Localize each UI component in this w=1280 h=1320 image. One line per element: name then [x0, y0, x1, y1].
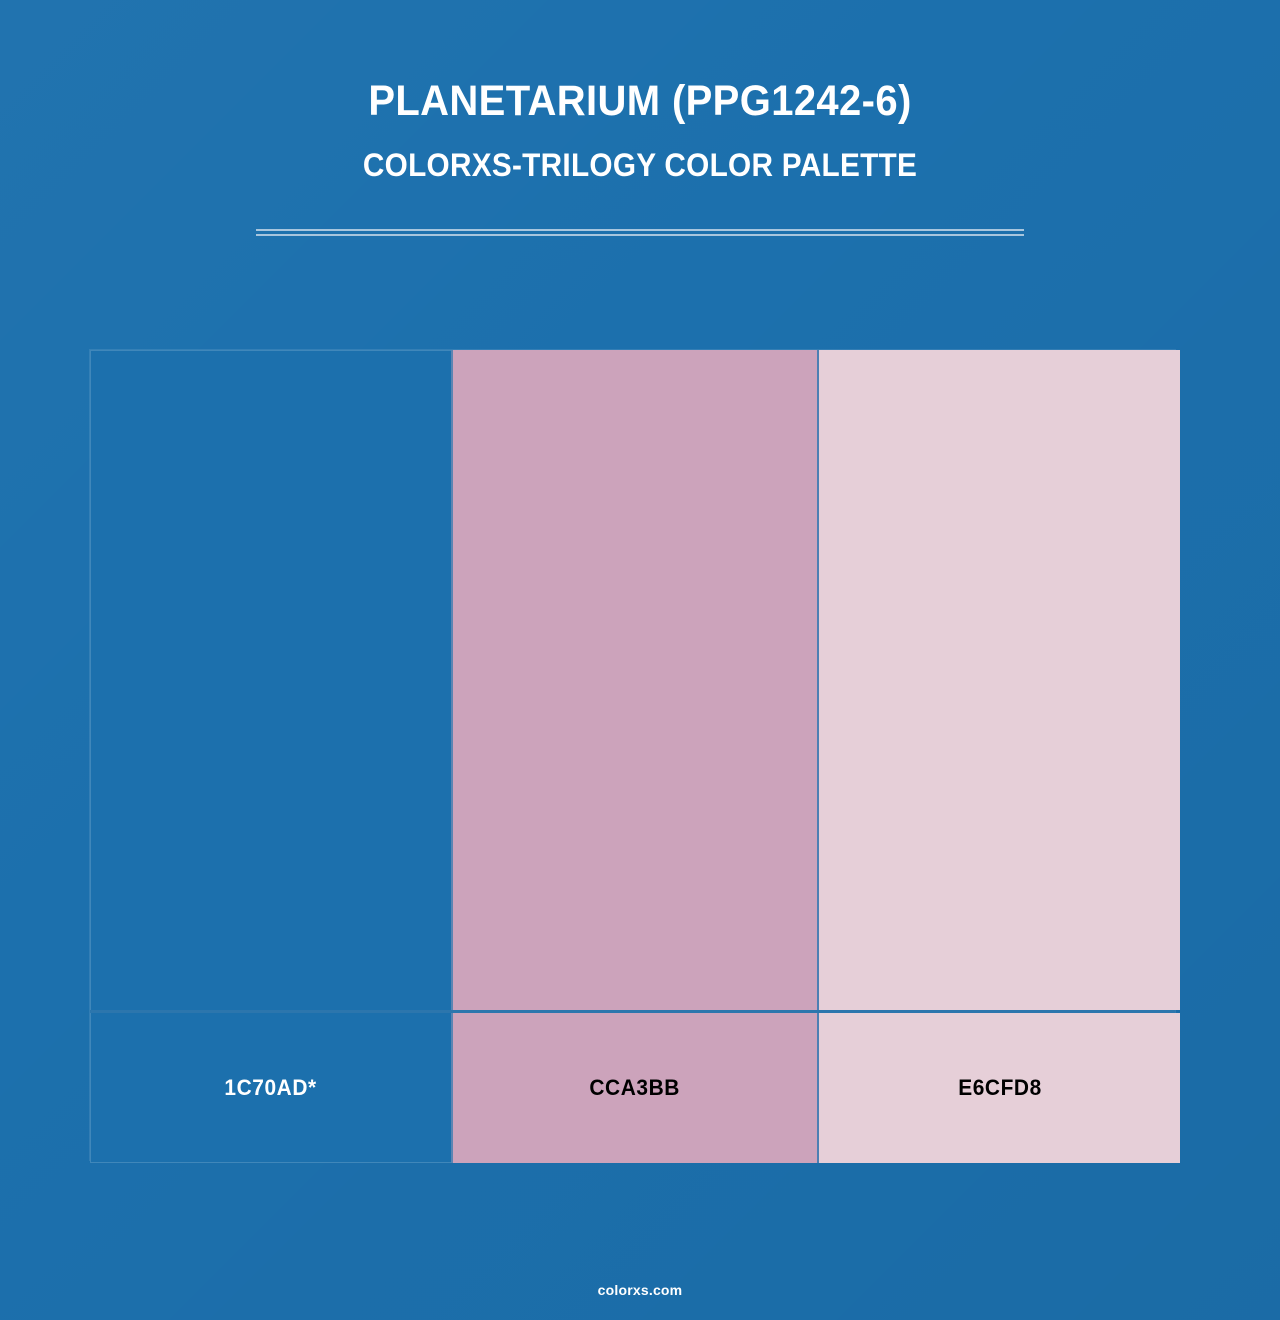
palette-page: PLANETARIUM (PPG1242-6) COLORXS-TRILOGY … — [0, 0, 1280, 1320]
color-label-cell-3[interactable]: E6CFD8 — [817, 1013, 1180, 1163]
footer: colorxs.com — [0, 1282, 1280, 1300]
color-swatch-2[interactable] — [451, 350, 817, 1010]
color-swatch-1[interactable] — [90, 350, 451, 1010]
divider-line-top — [256, 229, 1024, 231]
footer-site-label: colorxs.com — [598, 1282, 683, 1298]
divider-line-bottom — [256, 234, 1024, 236]
header: PLANETARIUM (PPG1242-6) COLORXS-TRILOGY … — [0, 0, 1280, 184]
color-label-2: CCA3BB — [590, 1075, 681, 1101]
color-palette-card: 1C70AD* CCA3BB E6CFD8 — [90, 350, 1175, 1160]
header-divider — [256, 229, 1024, 237]
color-label-cell-1[interactable]: 1C70AD* — [90, 1013, 451, 1163]
color-label-1: 1C70AD* — [225, 1075, 317, 1101]
swatch-row — [90, 350, 1175, 1010]
color-label-3: E6CFD8 — [958, 1075, 1042, 1101]
color-swatch-3[interactable] — [817, 350, 1180, 1010]
swatch-label-row: 1C70AD* CCA3BB E6CFD8 — [90, 1010, 1175, 1163]
page-title: PLANETARIUM (PPG1242-6) — [45, 0, 1235, 126]
color-label-cell-2[interactable]: CCA3BB — [451, 1013, 817, 1163]
page-subtitle: COLORXS-TRILOGY COLOR PALETTE — [45, 126, 1235, 184]
